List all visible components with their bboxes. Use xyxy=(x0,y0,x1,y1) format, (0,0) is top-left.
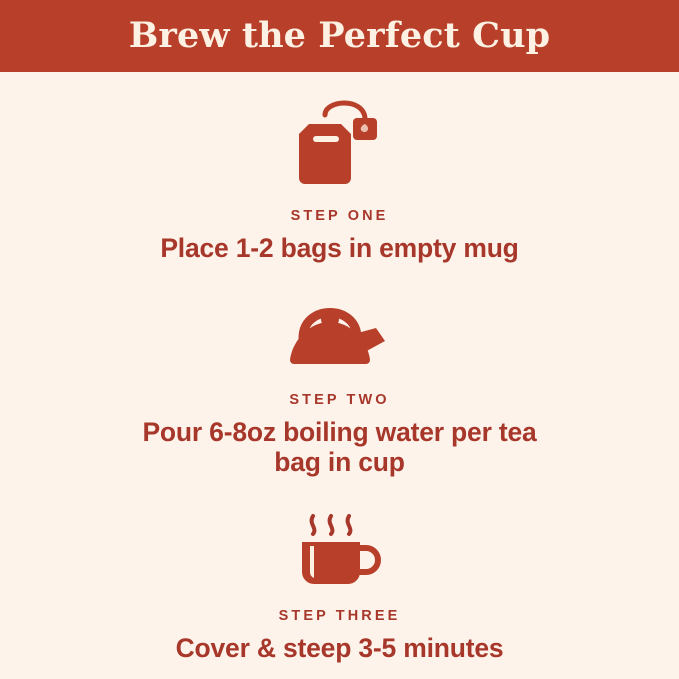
brew-instructions-infographic: Brew the Perfect Cup STEP ONE xyxy=(0,0,679,679)
step-item: STEP THREE Cover & steep 3-5 minutes xyxy=(0,508,679,664)
step-item: STEP ONE Place 1-2 bags in empty mug xyxy=(0,92,679,264)
step-label: STEP ONE xyxy=(291,208,389,224)
kettle-icon xyxy=(282,294,398,370)
page-title: Brew the Perfect Cup xyxy=(129,18,551,53)
tea-bag-icon xyxy=(285,98,395,190)
step-item: STEP TWO Pour 6-8oz boiling water per te… xyxy=(0,294,679,478)
step-description: Pour 6-8oz boiling water per tea bag in … xyxy=(130,417,550,478)
header-band: Brew the Perfect Cup xyxy=(0,0,679,72)
steaming-mug-icon xyxy=(290,508,390,588)
step-description: Place 1-2 bags in empty mug xyxy=(160,233,518,264)
step-label: STEP TWO xyxy=(289,392,389,408)
step-label: STEP THREE xyxy=(279,608,401,624)
steps-list: STEP ONE Place 1-2 bags in empty mug STE… xyxy=(0,72,679,679)
step-description: Cover & steep 3-5 minutes xyxy=(176,633,504,664)
